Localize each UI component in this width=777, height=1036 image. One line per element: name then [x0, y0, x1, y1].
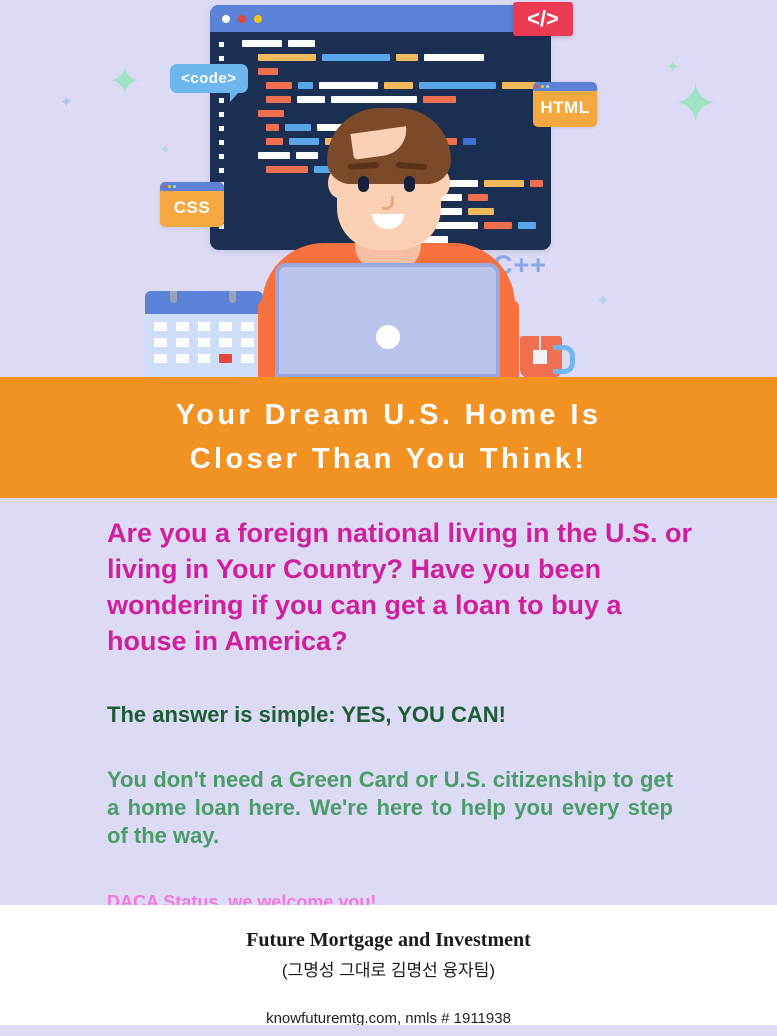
eye-right — [404, 176, 415, 192]
lead-paragraph: Are you a foreign national living in the… — [107, 516, 697, 660]
headline-line-1: Your Dream U.S. Home Is — [176, 394, 602, 438]
bottom-strip — [0, 1025, 777, 1036]
footer: Future Mortgage and Investment (그명성 그대로 … — [0, 905, 777, 1025]
company-name-korean: (그명성 그대로 김명선 융자팀) — [0, 956, 777, 981]
company-name: Future Mortgage and Investment — [0, 929, 777, 952]
poster: ✦ ✦ ✦ ✦ ✦ ✦ — [0, 0, 777, 1036]
headline-line-2: Closer Than You Think! — [190, 438, 588, 482]
headline-banner: Your Dream U.S. Home Is Closer Than You … — [0, 377, 777, 498]
laptop-logo — [376, 325, 400, 349]
answer-line: The answer is simple: YES, YOU CAN! — [107, 702, 697, 728]
support-paragraph: You don't need a Green Card or U.S. citi… — [107, 766, 673, 850]
body-content: Are you a foreign national living in the… — [0, 498, 777, 905]
laptop-icon — [275, 263, 500, 378]
footer-text-block: Future Mortgage and Investment (그명성 그대로 … — [0, 929, 777, 1027]
eye-left — [358, 176, 369, 192]
developer-illustration — [0, 0, 777, 378]
hero-illustration: ✦ ✦ ✦ ✦ ✦ ✦ — [0, 0, 777, 378]
